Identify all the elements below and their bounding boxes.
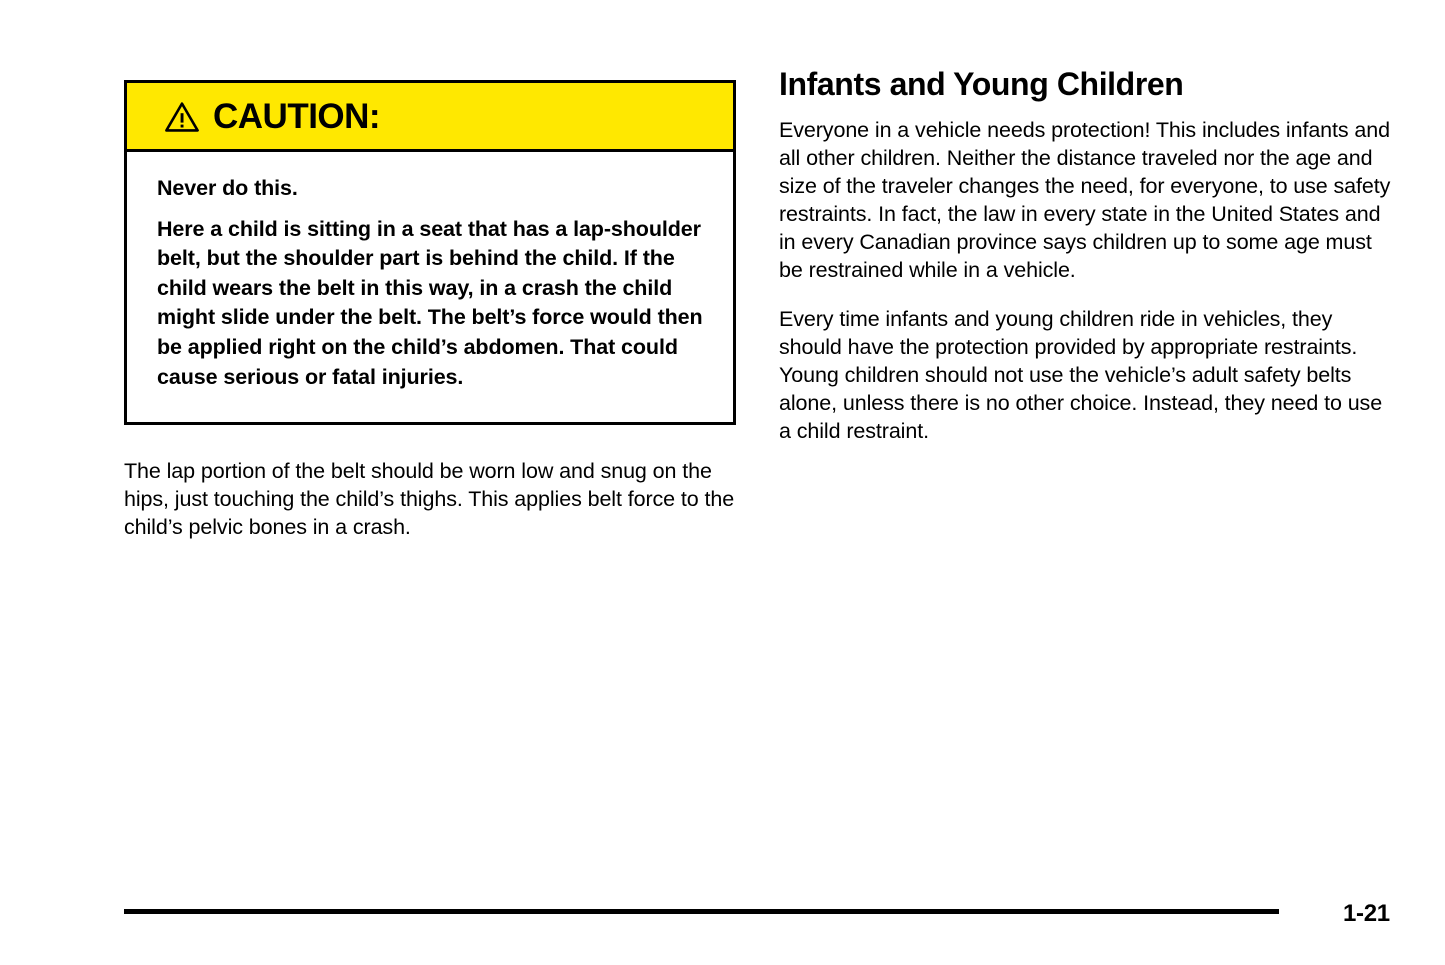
right-column: Infants and Young Children Everyone in a… xyxy=(779,66,1393,445)
caution-heading: CAUTION: xyxy=(213,99,380,134)
section-heading: Infants and Young Children xyxy=(779,66,1393,102)
caution-paragraph-1: Never do this. xyxy=(157,174,703,204)
left-column: CAUTION: Never do this. Here a child is … xyxy=(124,80,736,541)
caution-body: Never do this. Here a child is sitting i… xyxy=(127,152,733,422)
warning-triangle-icon xyxy=(165,102,199,132)
right-body-paragraph-1: Everyone in a vehicle needs protection! … xyxy=(779,116,1393,284)
caution-header-bar: CAUTION: xyxy=(127,83,733,152)
right-body-paragraph-2: Every time infants and young children ri… xyxy=(779,305,1393,445)
page-number: 1-21 xyxy=(1343,900,1390,928)
left-body-paragraph-1: The lap portion of the belt should be wo… xyxy=(124,457,736,541)
caution-paragraph-2: Here a child is sitting in a seat that h… xyxy=(157,215,703,393)
manual-page: CAUTION: Never do this. Here a child is … xyxy=(0,0,1445,965)
footer-divider-rule xyxy=(124,909,1279,914)
caution-callout-box: CAUTION: Never do this. Here a child is … xyxy=(124,80,736,425)
